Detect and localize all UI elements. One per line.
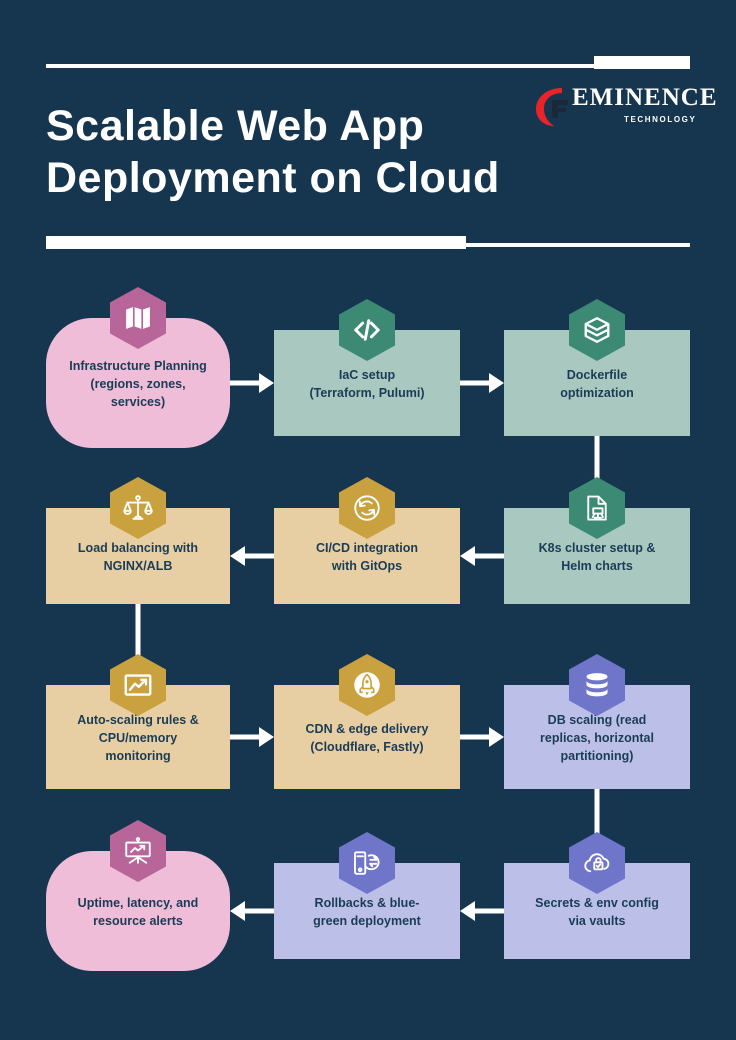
flow-node-label-line: with GitOps: [316, 557, 418, 575]
arrow-rollbacks-blue-green-to-uptime-latency-alerts: [230, 900, 274, 922]
flow-node-infrastructure-planning[interactable]: Infrastructure Planning(regions, zones,s…: [46, 318, 230, 448]
flow-node-label-line: IaC setup: [309, 366, 424, 384]
flow-node-label: K8s cluster setup &Helm charts: [539, 539, 656, 575]
flow-node-label-line: Dockerfile: [560, 366, 634, 384]
flow-node-label-line: Helm charts: [539, 557, 656, 575]
header: Scalable Web App Deployment on Cloud EMI…: [0, 0, 736, 275]
process-flow-diagram: Infrastructure Planning(regions, zones,s…: [0, 275, 736, 1040]
flow-node-label-line: CI/CD integration: [316, 539, 418, 557]
brand-name: EMINENCE: [572, 84, 718, 112]
flow-node-label: CI/CD integrationwith GitOps: [316, 539, 418, 575]
flow-node-label-line: green deployment: [313, 912, 421, 930]
flow-node-label-line: monitoring: [77, 747, 199, 765]
flow-node-uptime-latency-alerts[interactable]: Uptime, latency, andresource alerts: [46, 851, 230, 971]
flow-node-label-line: Rollbacks & blue-: [313, 894, 421, 912]
arrow-k8s-cluster-setup-to-cicd-integration: [460, 545, 504, 567]
flow-node-load-balancing[interactable]: Load balancing withNGINX/ALB: [46, 508, 230, 604]
flow-node-label: Secrets & env configvia vaults: [535, 894, 659, 930]
flow-node-label-line: via vaults: [535, 912, 659, 930]
page-title: Scalable Web App Deployment on Cloud: [46, 100, 516, 205]
flow-node-cdn-edge-delivery[interactable]: CDN & edge delivery(Cloudflare, Fastly): [274, 685, 460, 789]
flow-node-label-line: replicas, horizontal: [540, 729, 654, 747]
flow-node-dockerfile-optimization[interactable]: Dockerfileoptimization: [504, 330, 690, 436]
flow-node-label-line: resource alerts: [78, 912, 199, 930]
flow-node-secrets-env-config[interactable]: Secrets & env configvia vaults: [504, 863, 690, 959]
flow-node-label-line: CDN & edge delivery: [306, 720, 429, 738]
flow-node-label: Load balancing withNGINX/ALB: [78, 539, 198, 575]
arrow-cicd-integration-to-load-balancing: [230, 545, 274, 567]
flow-node-label-line: (regions, zones,: [69, 375, 207, 393]
flow-node-label-line: (Cloudflare, Fastly): [306, 738, 429, 756]
eminence-flame-icon: [528, 84, 576, 130]
flow-node-label: Rollbacks & blue-green deployment: [313, 894, 421, 930]
flow-node-label: DB scaling (readreplicas, horizontalpart…: [540, 711, 654, 765]
arrow-secrets-env-config-to-rollbacks-blue-green: [460, 900, 504, 922]
page-title-line-1: Scalable Web App: [46, 100, 516, 152]
brand-logo: EMINENCE TECHNOLOGY: [528, 82, 700, 140]
arrow-infrastructure-planning-to-iac-setup: [230, 372, 274, 394]
flow-node-db-scaling[interactable]: DB scaling (readreplicas, horizontalpart…: [504, 685, 690, 789]
flow-node-label-line: partitioning): [540, 747, 654, 765]
flow-node-label-line: Infrastructure Planning: [69, 357, 207, 375]
page-title-line-2: Deployment on Cloud: [46, 152, 516, 204]
flow-node-label: CDN & edge delivery(Cloudflare, Fastly): [306, 720, 429, 756]
brand-tagline: TECHNOLOGY: [624, 115, 696, 124]
flow-node-label-line: NGINX/ALB: [78, 557, 198, 575]
flow-node-cicd-integration[interactable]: CI/CD integrationwith GitOps: [274, 508, 460, 604]
flow-node-rollbacks-blue-green[interactable]: Rollbacks & blue-green deployment: [274, 863, 460, 959]
header-bottom-rule-block: [46, 236, 466, 249]
flow-node-label: IaC setup(Terraform, Pulumi): [309, 366, 424, 402]
flow-node-label-line: (Terraform, Pulumi): [309, 384, 424, 402]
flow-node-label-line: CPU/memory: [77, 729, 199, 747]
flow-node-label-line: optimization: [560, 384, 634, 402]
flow-node-auto-scaling-rules[interactable]: Auto-scaling rules &CPU/memorymonitoring: [46, 685, 230, 789]
arrow-iac-setup-to-dockerfile-optimization: [460, 372, 504, 394]
header-top-rule-block: [594, 56, 690, 69]
flow-node-label: Dockerfileoptimization: [560, 366, 634, 402]
flow-node-label-line: Uptime, latency, and: [78, 894, 199, 912]
arrow-auto-scaling-rules-to-cdn-edge-delivery: [230, 726, 274, 748]
flow-node-k8s-cluster-setup[interactable]: K8s cluster setup &Helm charts: [504, 508, 690, 604]
flow-node-label-line: Secrets & env config: [535, 894, 659, 912]
flow-node-label: Infrastructure Planning(regions, zones,s…: [69, 357, 207, 411]
flow-node-label: Auto-scaling rules &CPU/memorymonitoring: [77, 711, 199, 765]
flow-node-label-line: services): [69, 393, 207, 411]
flow-node-label: Uptime, latency, andresource alerts: [78, 894, 199, 930]
flow-node-iac-setup[interactable]: IaC setup(Terraform, Pulumi): [274, 330, 460, 436]
arrow-cdn-edge-delivery-to-db-scaling: [460, 726, 504, 748]
flow-node-label-line: K8s cluster setup &: [539, 539, 656, 557]
flow-node-label-line: Load balancing with: [78, 539, 198, 557]
